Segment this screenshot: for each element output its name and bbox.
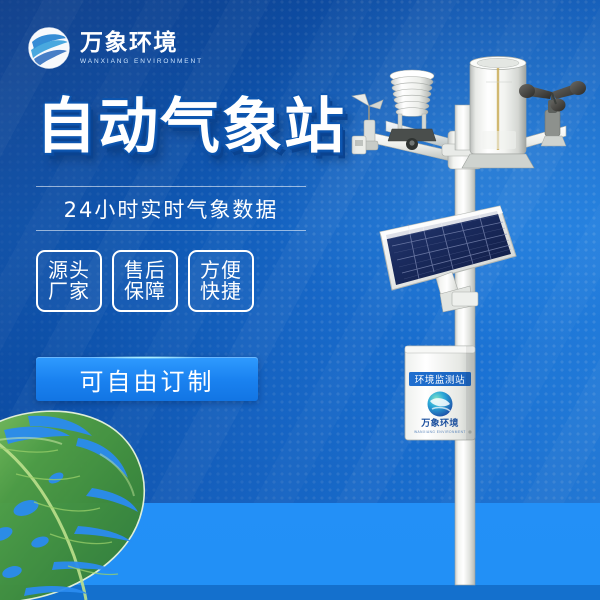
feature-line-1: 源头 <box>48 260 90 281</box>
product-poster: 环境监测站 万象环境 WANXIANG ENVIRONMENT <box>0 0 600 600</box>
feature-line-1: 方便 <box>200 260 242 281</box>
leaf-body <box>0 411 144 600</box>
background-glow <box>250 0 600 360</box>
page-title-text: 自动气象站 <box>36 92 346 162</box>
brand-logo: 万象环境 WANXIANG ENVIRONMENT <box>25 24 203 72</box>
feature-badges: 源头 厂家 售后 保障 方便 快捷 <box>36 250 254 312</box>
subtitle-rule-bottom <box>36 230 306 231</box>
feature-line-1: 售后 <box>124 260 166 281</box>
monstera-leaf-illustration <box>0 392 197 600</box>
brand-name-cn: 万象环境 <box>80 31 203 55</box>
brand-name-en: WANXIANG ENVIRONMENT <box>80 58 203 65</box>
feature-badge-convenient[interactable]: 方便 快捷 <box>188 250 254 312</box>
page-title: 自动气象站 <box>36 97 346 157</box>
brand-name-block: 万象环境 WANXIANG ENVIRONMENT <box>80 31 203 64</box>
feature-line-2: 厂家 <box>48 281 90 302</box>
subtitle-block: 24小时实时气象数据 <box>36 186 306 231</box>
feature-line-2: 保障 <box>124 281 166 302</box>
feature-badge-source-factory[interactable]: 源头 厂家 <box>36 250 102 312</box>
feature-badge-after-sales[interactable]: 售后 保障 <box>112 250 178 312</box>
customize-button-label: 可自由订制 <box>80 362 215 397</box>
subtitle-text: 24小时实时气象数据 <box>36 187 306 230</box>
customize-button[interactable]: 可自由订制 <box>36 357 258 401</box>
feature-line-2: 快捷 <box>200 281 242 302</box>
globe-swoosh-logo-icon <box>25 24 73 72</box>
